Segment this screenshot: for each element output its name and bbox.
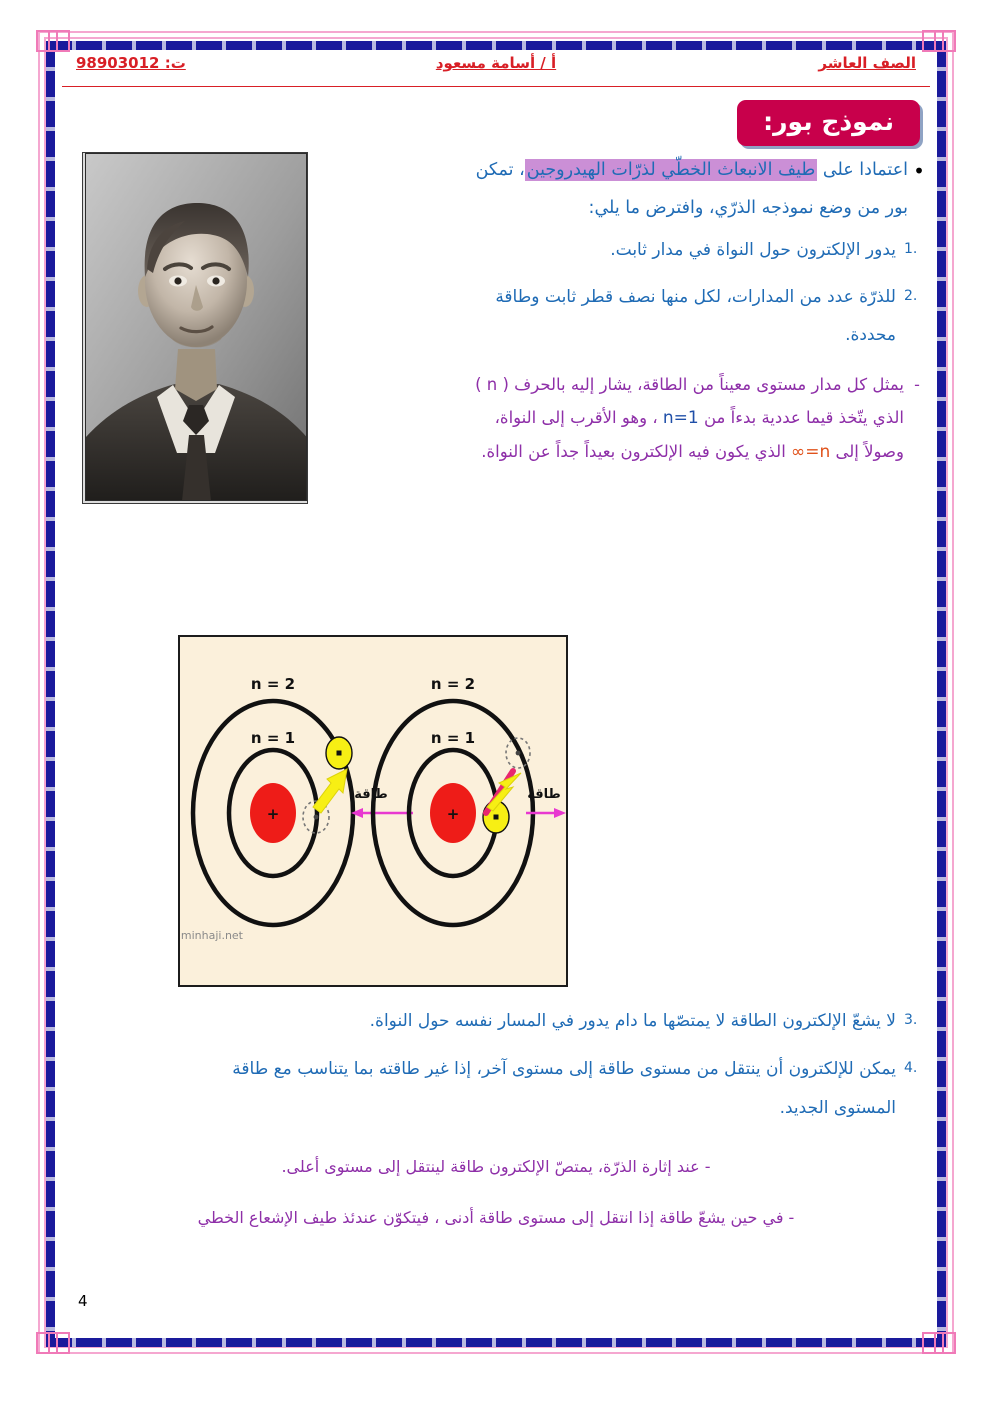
- page-content: الصف العاشر أ / أسامة مسعود ت: 98903012 …: [62, 52, 930, 1334]
- title-badge-wrapper: نموذج بور:: [737, 100, 920, 146]
- page-number: 4: [78, 1292, 88, 1310]
- postulate-4-text: يمكن للإلكترون أن ينتقل من مستوى طاقة إل…: [62, 1050, 896, 1127]
- note-line-2: الذي يتّخذ قيما عددية بدءاً من n=1 ، وهو…: [320, 401, 904, 435]
- document-header: الصف العاشر أ / أسامة مسعود ت: 98903012: [62, 52, 930, 87]
- corner-ornament-top-right-2: [922, 30, 944, 52]
- document-page: الصف العاشر أ / أسامة مسعود ت: 98903012 …: [0, 0, 992, 1403]
- postulate-2: 2. للذرّة عدد من المدارات، لكل منها نصف …: [320, 278, 930, 355]
- note-line-3b: الذي يكون فيه الإلكترون بعيداً جداً عن ا…: [481, 442, 791, 461]
- quantum-number-max: n=∞: [791, 442, 830, 462]
- figure-watermark: minhaji.net: [181, 929, 244, 942]
- right-label-n2: n = 2: [431, 675, 475, 693]
- corner-ornament-bottom-left-2: [48, 1332, 70, 1354]
- postulate-2-marker: 2.: [896, 278, 930, 314]
- page-border-right-dashes: [937, 41, 946, 1347]
- postulate-4-line-1: يمكن للإلكترون أن ينتقل من مستوى طاقة إل…: [232, 1059, 896, 1079]
- closing-line-1: - عند إثارة الذرّة، يمتصّ الإلكترون طاقة…: [62, 1149, 930, 1184]
- svg-text:+: +: [267, 805, 280, 823]
- postulate-3: 3. لا يشعّ الإلكترون الطاقة لا يمتصّها م…: [62, 1002, 930, 1040]
- note-line-3a: وصولاً إلى: [830, 442, 904, 461]
- closing-line-2: - في حين يشعّ طاقة إذا انتقل إلى مستوى ط…: [62, 1200, 930, 1235]
- postulate-2-line-1: للذرّة عدد من المدارات، لكل منها نصف قطر…: [495, 287, 896, 307]
- postulate-2-text: للذرّة عدد من المدارات، لكل منها نصف قطر…: [320, 278, 896, 355]
- postulate-1-text: يدور الإلكترون حول النواة في مدار ثابت.: [320, 231, 896, 269]
- note-line-1: يمثل كل مدار مستوى معيناً من الطاقة، يشا…: [320, 368, 904, 401]
- intro-after-highlight: ، تمكن: [476, 160, 525, 180]
- postulate-4: 4. يمكن للإلكترون أن ينتقل من مستوى طاقة…: [62, 1050, 930, 1127]
- postulate-3-marker: 3.: [896, 1002, 930, 1038]
- quantum-number-min: n=1: [663, 408, 699, 428]
- corner-ornament-bottom-right-2: [922, 1332, 944, 1354]
- lower-text-block: 3. لا يشعّ الإلكترون الطاقة لا يمتصّها م…: [62, 1002, 930, 1235]
- page-title: نموذج بور:: [737, 100, 920, 146]
- upper-text-block: • اعتمادا على طيف الانبعاث الخطّي لذرّات…: [320, 152, 930, 469]
- note-line-3: وصولاً إلى n=∞ الذي يكون فيه الإلكترون ب…: [320, 435, 904, 469]
- note-line-2a: الذي يتّخذ قيما عددية بدءاً من: [699, 408, 904, 427]
- postulate-3-text: لا يشعّ الإلكترون الطاقة لا يمتصّها ما د…: [62, 1002, 896, 1040]
- intro-highlight: طيف الانبعاث الخطّي لذرّات الهيدروجين: [525, 159, 818, 181]
- intro-before-highlight: اعتمادا على: [817, 160, 908, 180]
- page-border-left-dashes: [46, 41, 55, 1347]
- header-teacher: أ / أسامة مسعود: [436, 54, 556, 72]
- left-label-n1: n = 1: [251, 729, 295, 747]
- left-label-n2: n = 2: [251, 675, 295, 693]
- bohr-model-diagram: + n = 2 n = 1 طاقة: [178, 635, 568, 987]
- page-border-bottom-dashes: [46, 1338, 946, 1347]
- postulate-1: 1. يدور الإلكترون حول النواة في مدار ثاب…: [320, 231, 930, 269]
- postulate-4-line-2: المستوى الجديد.: [62, 1089, 896, 1127]
- postulate-2-line-2: محددة.: [320, 316, 896, 354]
- dash-marker-icon: -: [904, 368, 930, 402]
- right-label-energy: طاقة: [527, 787, 561, 802]
- page-border-top-dashes: [46, 41, 946, 50]
- left-label-energy: طاقة: [354, 787, 388, 802]
- header-phone: ت: 98903012: [76, 54, 186, 72]
- right-label-n1: n = 1: [431, 729, 475, 747]
- svg-text:+: +: [447, 805, 460, 823]
- niels-bohr-portrait: [82, 152, 308, 504]
- note-line-2b: ، وهو الأقرب إلى النواة،: [495, 408, 663, 427]
- postulate-4-marker: 4.: [896, 1050, 930, 1086]
- corner-ornament-top-left-2: [48, 30, 70, 52]
- intro-line-2: بور من وضع نموذجه الذرّي، وافترض ما يلي:: [320, 190, 908, 228]
- intro-bullet: • اعتمادا على طيف الانبعاث الخطّي لذرّات…: [320, 152, 930, 227]
- energy-level-note: - يمثل كل مدار مستوى معيناً من الطاقة، ي…: [320, 368, 930, 469]
- energy-level-note-text: يمثل كل مدار مستوى معيناً من الطاقة، يشا…: [320, 368, 904, 469]
- bullet-dot-icon: •: [908, 152, 930, 190]
- header-grade: الصف العاشر: [818, 54, 916, 72]
- intro-bullet-text: اعتمادا على طيف الانبعاث الخطّي لذرّات ا…: [320, 152, 908, 227]
- postulate-1-marker: 1.: [896, 231, 930, 267]
